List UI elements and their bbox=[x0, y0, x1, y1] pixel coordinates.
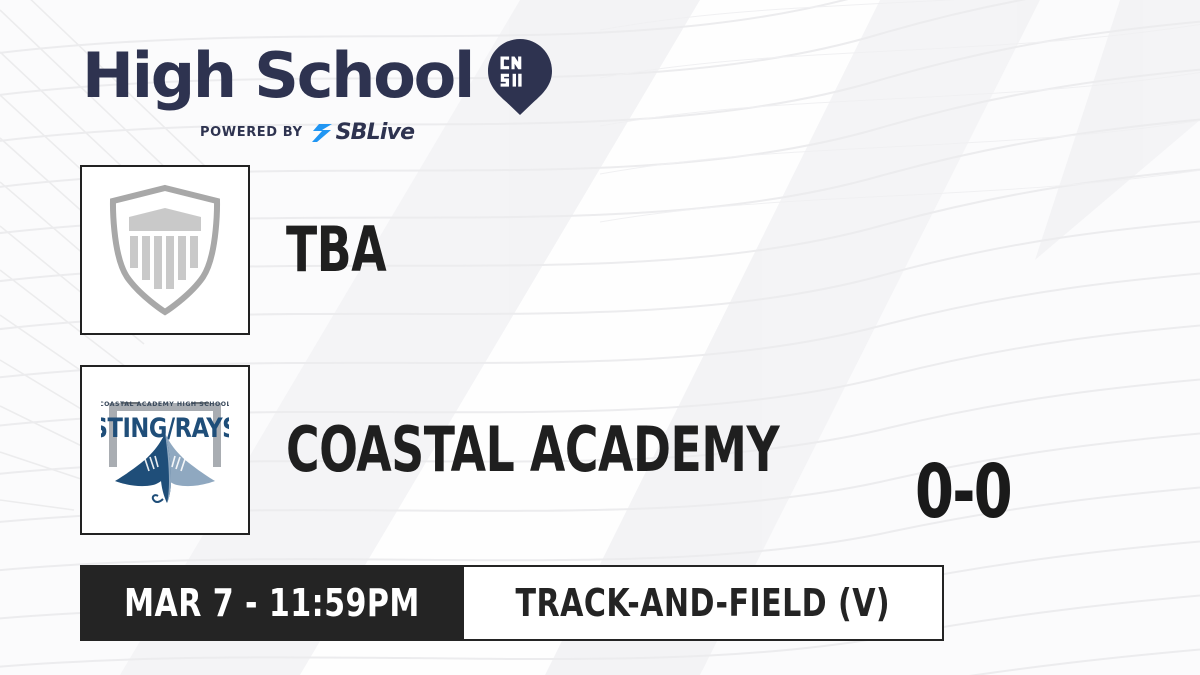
game-info-bar: MAR 7 - 11:59PM TRACK-AND-FIELD (V) bbox=[80, 565, 944, 641]
sblive-wordmark: SBLive bbox=[336, 120, 415, 145]
team-logo-box: COASTAL ACADEMY HIGH SCHOOL STING/RAYS bbox=[80, 365, 250, 535]
powered-by-row: POWERED BY SBLive bbox=[82, 120, 553, 145]
game-sport: TRACK-AND-FIELD (V) bbox=[515, 581, 890, 625]
game-sport-block: TRACK-AND-FIELD (V) bbox=[464, 565, 944, 641]
team-row: COASTAL ACADEMY HIGH SCHOOL STING/RAYS C… bbox=[80, 365, 887, 535]
brand-title-row: High School bbox=[82, 36, 553, 116]
score-display: 0-0 bbox=[915, 455, 1011, 529]
team-row: TBA bbox=[80, 165, 408, 335]
team-name: TBA bbox=[286, 219, 386, 281]
coastal-academy-stingrays-icon: COASTAL ACADEMY HIGH SCHOOL STING/RAYS bbox=[101, 389, 229, 511]
game-datetime: MAR 7 - 11:59PM bbox=[124, 581, 420, 625]
sblive-wordmark-suffix: ive bbox=[380, 120, 414, 145]
matchup-graphic-card: High School POWERED BY bbox=[0, 0, 1200, 675]
brand-wordmark: High School bbox=[82, 47, 473, 106]
lightning-bolt-s-icon bbox=[311, 123, 333, 143]
game-datetime-block: MAR 7 - 11:59PM bbox=[80, 565, 464, 641]
map-pin-icon bbox=[487, 38, 553, 116]
sblive-wordmark-main: SBL bbox=[336, 120, 380, 145]
team-logo-box bbox=[80, 165, 250, 335]
powered-by-label: POWERED BY bbox=[200, 125, 303, 140]
team-name: COASTAL ACADEMY bbox=[286, 419, 779, 481]
brand-lockup: High School POWERED BY bbox=[82, 36, 553, 145]
logo-school-name: COASTAL ACADEMY HIGH SCHOOL bbox=[101, 401, 229, 408]
generic-shield-placeholder-icon bbox=[105, 184, 225, 316]
sblive-logo: SBLive bbox=[311, 120, 415, 145]
